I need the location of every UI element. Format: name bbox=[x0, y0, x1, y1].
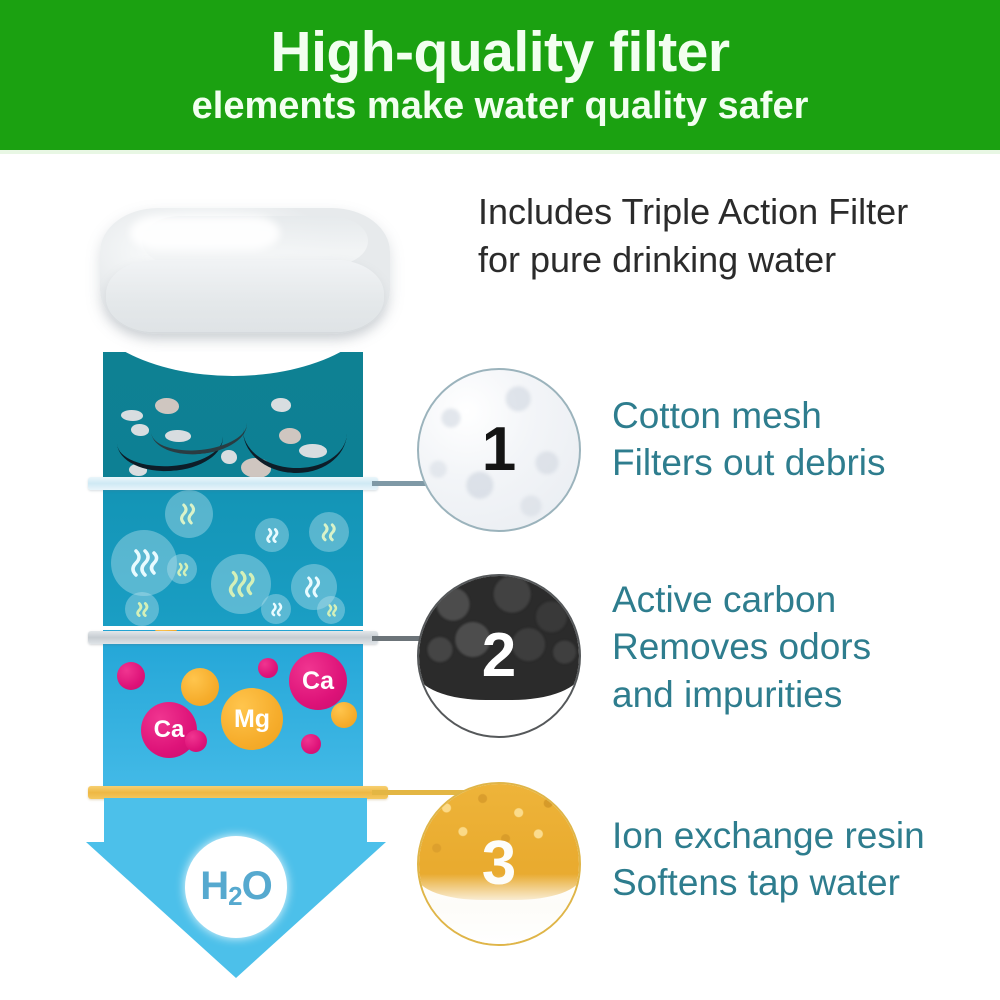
step-badge-cotton-mesh[interactable]: 1 bbox=[417, 368, 581, 532]
step-title-3: Ion exchange resin bbox=[612, 812, 925, 859]
layer-debris bbox=[103, 352, 363, 480]
odor-bubble bbox=[125, 592, 159, 626]
odor-bubble bbox=[167, 554, 197, 584]
banner-subtitle: elements make water quality safer bbox=[192, 87, 809, 127]
mineral-bubble-mg: Mg bbox=[221, 688, 283, 750]
step-badge-active-carbon[interactable]: 2 bbox=[417, 574, 581, 738]
mineral-bubble-small bbox=[331, 702, 357, 728]
step-desc-2-line1: Removes odors bbox=[612, 623, 871, 670]
mineral-bubble-small bbox=[258, 658, 278, 678]
divider-cotton-mesh bbox=[88, 477, 378, 490]
cartridge-highlight bbox=[130, 216, 280, 250]
odor-bubble bbox=[261, 594, 291, 624]
intro-paragraph: Includes Triple Action Filter for pure d… bbox=[478, 188, 948, 284]
mineral-bubble-small bbox=[301, 734, 321, 754]
step-title-1: Cotton mesh bbox=[612, 392, 886, 439]
step-number-1: 1 bbox=[482, 419, 516, 481]
step-desc-1: Filters out debris bbox=[612, 439, 886, 486]
layer-minerals: CaMgCa bbox=[103, 630, 363, 798]
step-number-2: 2 bbox=[482, 625, 516, 687]
step-label-3: Ion exchange resin Softens tap water bbox=[612, 812, 925, 907]
divider-active-carbon bbox=[88, 631, 378, 644]
banner-underline bbox=[0, 150, 1000, 154]
water-surface bbox=[103, 352, 363, 376]
header-banner: High-quality filter elements make water … bbox=[0, 0, 1000, 152]
layer-odors bbox=[103, 484, 363, 626]
step-badge-ion-exchange-resin[interactable]: 3 bbox=[417, 782, 581, 946]
filter-cartridge-image bbox=[86, 186, 406, 356]
mineral-bubble-small bbox=[181, 668, 219, 706]
step-desc-2-line2: and impurities bbox=[612, 671, 871, 718]
debris-fleck bbox=[221, 450, 237, 464]
step-label-2: Active carbon Removes odors and impuriti… bbox=[612, 576, 871, 718]
mineral-bubble-small bbox=[185, 730, 207, 752]
filter-column-diagram: CaMgCa bbox=[103, 352, 363, 798]
mineral-bubble-ca: Ca bbox=[289, 652, 347, 710]
h2o-label: H2O bbox=[200, 866, 271, 909]
step-number-3: 3 bbox=[482, 833, 516, 895]
h2o-badge: H2O bbox=[185, 836, 287, 938]
water-output-arrow: H2O bbox=[86, 798, 386, 978]
odor-bubble bbox=[165, 490, 213, 538]
banner-title: High-quality filter bbox=[270, 23, 729, 81]
odor-bubble bbox=[255, 518, 289, 552]
mineral-bubble-small bbox=[117, 662, 145, 690]
odor-bubble bbox=[309, 512, 349, 552]
step-desc-3: Softens tap water bbox=[612, 859, 925, 906]
step-label-1: Cotton mesh Filters out debris bbox=[612, 392, 886, 487]
step-title-2: Active carbon bbox=[612, 576, 871, 623]
odor-bubble bbox=[317, 596, 345, 624]
cartridge-lip bbox=[106, 260, 384, 332]
